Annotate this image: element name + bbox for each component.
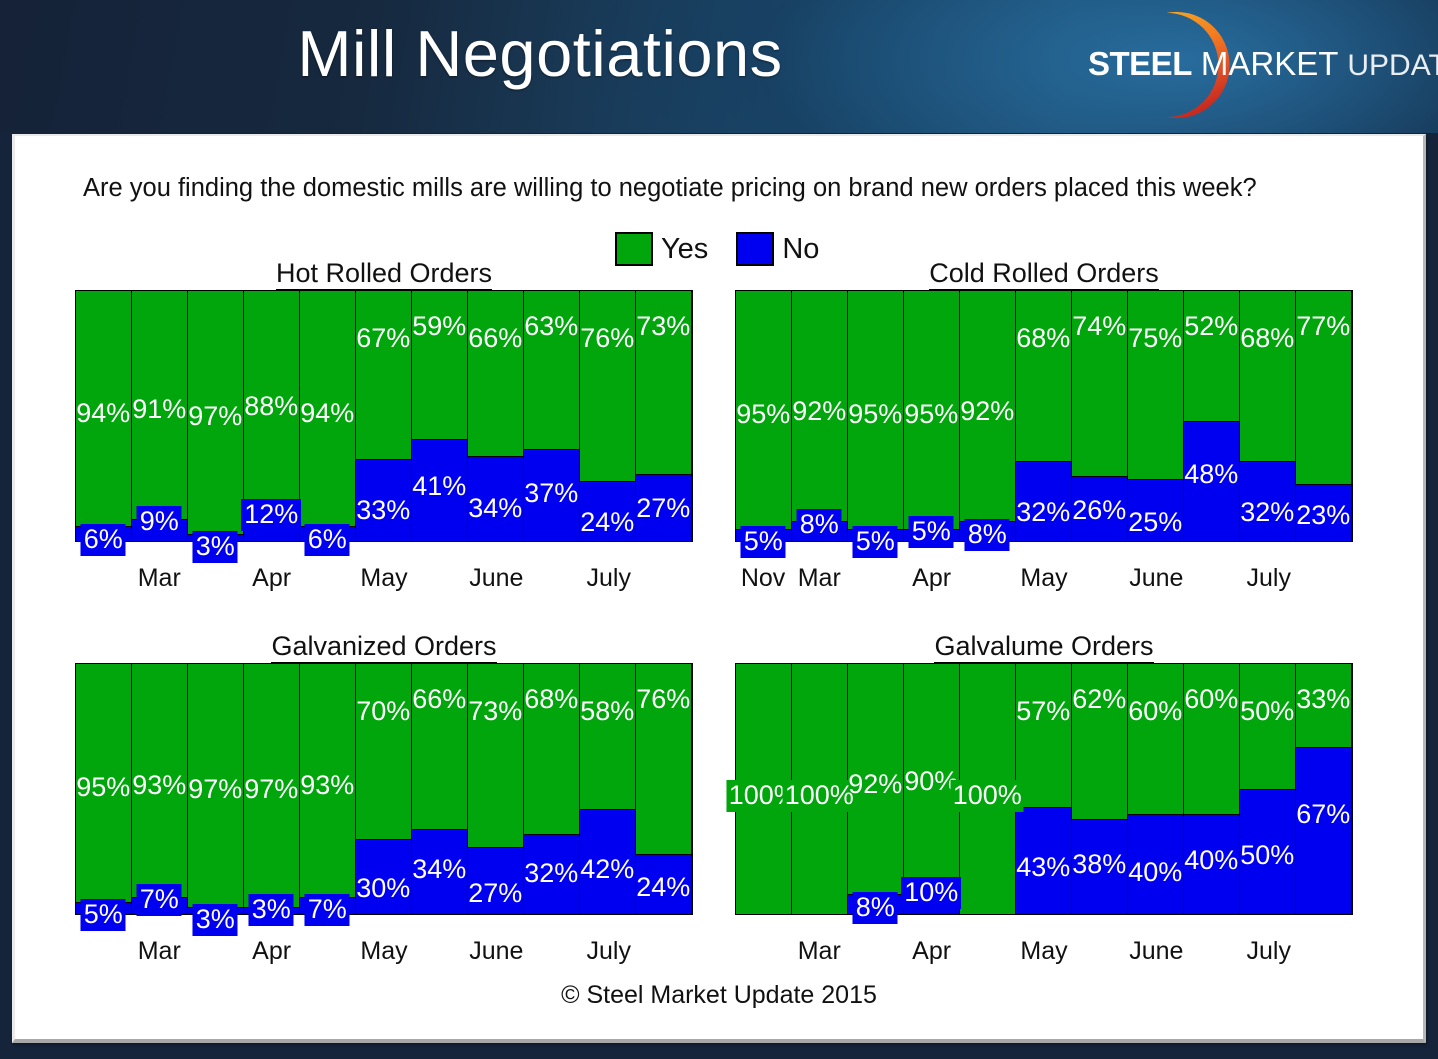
- stacked-bar[interactable]: 94%6%: [75, 291, 133, 541]
- bar-group: 95%5%92%8%95%5%95%5%92%8%68%32%74%26%75%…: [736, 291, 1352, 541]
- segment-no[interactable]: [736, 529, 792, 542]
- stacked-bar[interactable]: 88%12%: [243, 291, 301, 541]
- segment-no[interactable]: [1128, 814, 1184, 914]
- segment-yes[interactable]: [1184, 291, 1240, 421]
- stacked-bar[interactable]: 100%: [735, 664, 793, 914]
- segment-no[interactable]: [300, 897, 356, 915]
- segment-no[interactable]: [244, 907, 300, 915]
- x-tick-label: Mar: [138, 937, 181, 966]
- x-tick-label: Apr: [912, 937, 951, 966]
- segment-no[interactable]: [412, 829, 468, 914]
- x-tick-label: Apr: [252, 937, 291, 966]
- segment-no[interactable]: [848, 894, 904, 914]
- stacked-bar[interactable]: 97%3%: [187, 291, 245, 541]
- segment-yes[interactable]: [132, 664, 188, 897]
- stacked-bar[interactable]: 59%41%: [411, 291, 469, 541]
- x-tick-label: Mar: [798, 564, 841, 593]
- x-tick-label: Mar: [798, 937, 841, 966]
- steel-market-update-logo: STEELMARKETUPDATE: [1082, 6, 1432, 126]
- segment-no[interactable]: [468, 847, 524, 915]
- segment-yes[interactable]: [904, 664, 960, 889]
- stacked-bar[interactable]: 66%34%: [411, 664, 469, 914]
- stacked-bar[interactable]: 33%67%: [1295, 664, 1353, 914]
- logo-wordmark: STEELMARKETUPDATE: [1088, 44, 1432, 84]
- x-tick-label: Apr: [252, 564, 291, 593]
- segment-no[interactable]: [792, 521, 848, 541]
- stacked-bar[interactable]: 90%10%: [903, 664, 961, 914]
- stacked-bar[interactable]: 95%5%: [903, 291, 961, 541]
- stacked-bar[interactable]: 97%3%: [187, 664, 245, 914]
- segment-yes[interactable]: [76, 664, 132, 902]
- x-tick-label: July: [1246, 937, 1290, 966]
- stacked-bar[interactable]: 75%25%: [1127, 291, 1185, 541]
- stacked-bar[interactable]: 93%7%: [299, 664, 357, 914]
- plot-area-galvalume: 100%100%92%8%90%10%100%57%43%62%38%60%40…: [735, 663, 1353, 915]
- x-tick-label: June: [469, 564, 523, 593]
- segment-no[interactable]: [524, 449, 580, 542]
- segment-no[interactable]: [468, 456, 524, 541]
- x-tick-label: May: [1020, 564, 1067, 593]
- segment-yes[interactable]: [848, 291, 904, 529]
- chart-title-hot-rolled: Hot Rolled Orders: [75, 258, 693, 289]
- segment-no[interactable]: [1128, 479, 1184, 542]
- segment-no[interactable]: [300, 526, 356, 541]
- segment-yes[interactable]: [300, 664, 356, 897]
- x-tick-label: June: [1129, 937, 1183, 966]
- segment-yes[interactable]: [1184, 664, 1240, 814]
- segment-yes[interactable]: [636, 291, 692, 474]
- stacked-bar[interactable]: 68%32%: [1239, 291, 1297, 541]
- segment-no[interactable]: [132, 519, 188, 542]
- chart-title-text: Cold Rolled Orders: [929, 258, 1159, 292]
- stacked-bar[interactable]: 50%50%: [1239, 664, 1297, 914]
- page-title: Mill Negotiations: [0, 16, 1080, 91]
- segment-no[interactable]: [524, 834, 580, 914]
- segment-yes[interactable]: [356, 291, 412, 459]
- stacked-bar[interactable]: 58%42%: [579, 664, 637, 914]
- x-tick-label: June: [1129, 564, 1183, 593]
- segment-no[interactable]: [356, 839, 412, 914]
- stacked-bar[interactable]: 93%7%: [131, 664, 189, 914]
- stacked-bar[interactable]: 67%33%: [355, 291, 413, 541]
- segment-no[interactable]: [904, 529, 960, 542]
- segment-yes[interactable]: [580, 291, 636, 481]
- copyright-footer: © Steel Market Update 2015: [15, 981, 1423, 1010]
- x-axis-hot-rolled: MarAprMayJuneJuly: [75, 564, 693, 598]
- logo-word-update: UPDATE: [1347, 49, 1438, 82]
- segment-yes[interactable]: [1296, 664, 1352, 747]
- segment-no[interactable]: [188, 907, 244, 915]
- logo-word-market: MARKET: [1201, 45, 1339, 82]
- segment-no[interactable]: [904, 889, 960, 914]
- segment-yes[interactable]: [736, 291, 792, 529]
- stacked-bar[interactable]: 68%32%: [1015, 291, 1073, 541]
- segment-yes[interactable]: [636, 664, 692, 854]
- segment-yes[interactable]: [1016, 664, 1072, 807]
- x-axis-galvalume: MarAprMayJuneJuly: [735, 937, 1353, 971]
- x-tick-label: July: [586, 937, 630, 966]
- stacked-bar[interactable]: 94%6%: [299, 291, 357, 541]
- x-tick-label: Nov: [741, 564, 785, 593]
- segment-no[interactable]: [636, 854, 692, 914]
- stacked-bar[interactable]: 66%34%: [467, 291, 525, 541]
- segment-no[interactable]: [1072, 476, 1128, 541]
- chart-galvanized: Galvanized Orders95%5%93%7%97%3%97%3%93%…: [75, 631, 693, 991]
- segment-yes[interactable]: [1296, 291, 1352, 484]
- segment-no[interactable]: [356, 459, 412, 542]
- segment-yes[interactable]: [76, 291, 132, 526]
- segment-yes[interactable]: [1240, 664, 1296, 789]
- segment-no[interactable]: [1184, 421, 1240, 541]
- segment-no[interactable]: [1240, 789, 1296, 914]
- segment-no[interactable]: [636, 474, 692, 542]
- x-tick-label: Mar: [138, 564, 181, 593]
- stacked-bar[interactable]: 73%27%: [467, 664, 525, 914]
- plot-area-cold-rolled: 95%5%92%8%95%5%95%5%92%8%68%32%74%26%75%…: [735, 290, 1353, 542]
- segment-yes[interactable]: [412, 291, 468, 439]
- logo-word-steel: STEEL: [1088, 45, 1192, 82]
- segment-yes[interactable]: [356, 664, 412, 839]
- segment-yes[interactable]: [960, 291, 1016, 521]
- segment-no[interactable]: [1016, 461, 1072, 541]
- segment-yes[interactable]: [132, 291, 188, 519]
- segment-no[interactable]: [580, 481, 636, 541]
- stacked-bar[interactable]: 100%: [959, 664, 1017, 914]
- segment-no[interactable]: [244, 511, 300, 541]
- segment-no[interactable]: [848, 529, 904, 542]
- segment-no[interactable]: [1240, 461, 1296, 541]
- stacked-bar[interactable]: 92%8%: [847, 664, 905, 914]
- segment-yes[interactable]: [468, 291, 524, 456]
- segment-no[interactable]: [1016, 807, 1072, 915]
- segment-no[interactable]: [580, 809, 636, 914]
- segment-yes[interactable]: [1240, 291, 1296, 461]
- plot-area-hot-rolled: 94%6%91%9%97%3%88%12%94%6%67%33%59%41%66…: [75, 290, 693, 542]
- stacked-bar[interactable]: 52%48%: [1183, 291, 1241, 541]
- chart-cold-rolled: Cold Rolled Orders95%5%92%8%95%5%95%5%92…: [735, 258, 1353, 618]
- x-tick-label: July: [586, 564, 630, 593]
- segment-yes[interactable]: [1072, 291, 1128, 476]
- segment-yes[interactable]: [792, 291, 848, 521]
- stacked-bar[interactable]: 77%23%: [1295, 291, 1353, 541]
- segment-no[interactable]: [76, 526, 132, 541]
- segment-no[interactable]: [132, 897, 188, 915]
- segment-no[interactable]: [1296, 484, 1352, 542]
- x-tick-label: Apr: [912, 564, 951, 593]
- x-axis-cold-rolled: NovMarAprMayJuneJuly: [735, 564, 1353, 598]
- segment-yes[interactable]: [244, 291, 300, 511]
- stacked-bar[interactable]: 92%8%: [959, 291, 1017, 541]
- stacked-bar[interactable]: 73%27%: [635, 291, 693, 541]
- chart-title-text: Galvalume Orders: [934, 631, 1153, 665]
- stacked-bar[interactable]: 68%32%: [523, 664, 581, 914]
- segment-no[interactable]: [1184, 814, 1240, 914]
- x-tick-label: May: [360, 937, 407, 966]
- stacked-bar[interactable]: 95%5%: [735, 291, 793, 541]
- stacked-bar[interactable]: 91%9%: [131, 291, 189, 541]
- x-tick-label: May: [360, 564, 407, 593]
- segment-yes[interactable]: [244, 664, 300, 907]
- stacked-bar[interactable]: 57%43%: [1015, 664, 1073, 914]
- segment-yes[interactable]: [792, 664, 848, 914]
- stacked-bar[interactable]: 95%5%: [75, 664, 133, 914]
- stacked-bar[interactable]: 63%37%: [523, 291, 581, 541]
- segment-yes[interactable]: [300, 291, 356, 526]
- x-tick-label: May: [1020, 937, 1067, 966]
- stacked-bar[interactable]: 60%40%: [1127, 664, 1185, 914]
- x-tick-label: July: [1246, 564, 1290, 593]
- bar-group: 94%6%91%9%97%3%88%12%94%6%67%33%59%41%66…: [76, 291, 692, 541]
- stacked-bar[interactable]: 97%3%: [243, 664, 301, 914]
- plot-area-galvanized: 95%5%93%7%97%3%97%3%93%7%70%30%66%34%73%…: [75, 663, 693, 915]
- segment-yes[interactable]: [960, 664, 1016, 914]
- header-banner: Mill Negotiations STEELMARKETUPDATE: [0, 0, 1438, 133]
- stacked-bar[interactable]: 60%40%: [1183, 664, 1241, 914]
- stacked-bar[interactable]: 76%24%: [579, 291, 637, 541]
- segment-yes[interactable]: [904, 291, 960, 529]
- segment-yes[interactable]: [188, 291, 244, 534]
- segment-no[interactable]: [1296, 747, 1352, 915]
- segment-yes[interactable]: [1128, 664, 1184, 814]
- chart-title-text: Hot Rolled Orders: [276, 258, 492, 292]
- stacked-bar[interactable]: 74%26%: [1071, 291, 1129, 541]
- stacked-bar[interactable]: 100%: [791, 664, 849, 914]
- stacked-bar[interactable]: 76%24%: [635, 664, 693, 914]
- segment-yes[interactable]: [524, 291, 580, 449]
- chart-hot-rolled: Hot Rolled Orders94%6%91%9%97%3%88%12%94…: [75, 258, 693, 618]
- bar-group: 100%100%92%8%90%10%100%57%43%62%38%60%40…: [736, 664, 1352, 914]
- segment-no[interactable]: [960, 521, 1016, 541]
- x-tick-label: June: [469, 937, 523, 966]
- stacked-bar[interactable]: 92%8%: [791, 291, 849, 541]
- x-axis-galvanized: MarAprMayJuneJuly: [75, 937, 693, 971]
- bar-group: 95%5%93%7%97%3%97%3%93%7%70%30%66%34%73%…: [76, 664, 692, 914]
- chart-title-text: Galvanized Orders: [271, 631, 496, 665]
- segment-yes[interactable]: [412, 664, 468, 829]
- segment-no[interactable]: [76, 902, 132, 915]
- segment-yes[interactable]: [580, 664, 636, 809]
- segment-no[interactable]: [188, 534, 244, 542]
- segment-yes[interactable]: [848, 664, 904, 894]
- slide-content-panel: Are you finding the domestic mills are w…: [12, 134, 1426, 1043]
- chart-galvalume: Galvalume Orders100%100%92%8%90%10%100%5…: [735, 631, 1353, 991]
- segment-yes[interactable]: [188, 664, 244, 907]
- segment-yes[interactable]: [1016, 291, 1072, 461]
- chart-title-galvalume: Galvalume Orders: [735, 631, 1353, 662]
- stacked-bar[interactable]: 62%38%: [1071, 664, 1129, 914]
- segment-yes[interactable]: [524, 664, 580, 834]
- stacked-bar[interactable]: 95%5%: [847, 291, 905, 541]
- segment-yes[interactable]: [1128, 291, 1184, 479]
- segment-yes[interactable]: [468, 664, 524, 847]
- segment-yes[interactable]: [736, 664, 792, 914]
- stacked-bar[interactable]: 70%30%: [355, 664, 413, 914]
- segment-no[interactable]: [412, 439, 468, 542]
- chart-title-cold-rolled: Cold Rolled Orders: [735, 258, 1353, 289]
- chart-title-galvanized: Galvanized Orders: [75, 631, 693, 662]
- segment-no[interactable]: [1072, 819, 1128, 914]
- survey-question: Are you finding the domestic mills are w…: [83, 174, 1383, 203]
- segment-yes[interactable]: [1072, 664, 1128, 819]
